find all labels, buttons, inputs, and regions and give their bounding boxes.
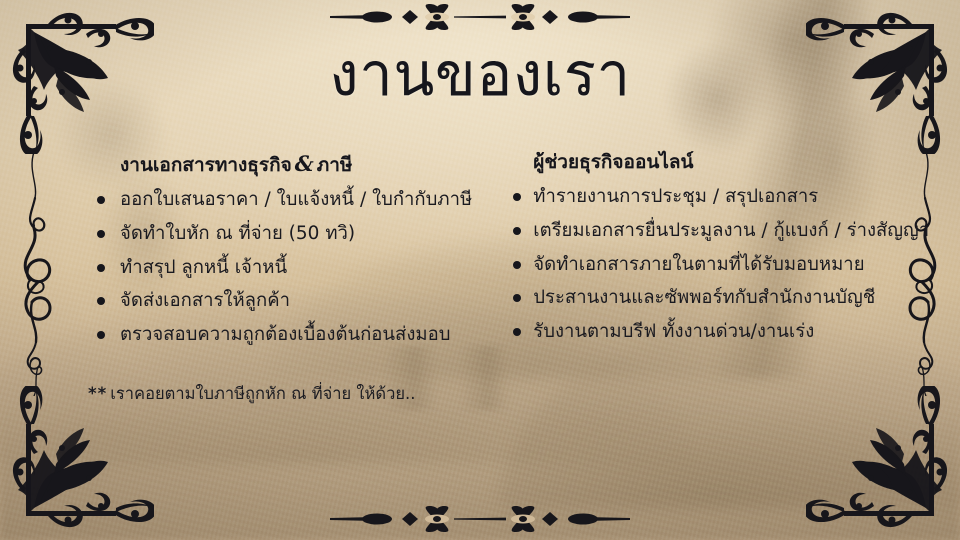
column-business-documents: งานเอกสารทางธุรกิจ&ภาษี ออกใบเสนอราคา / … bbox=[88, 150, 485, 353]
column-heading-left: งานเอกสารทางธุรกิจ&ภาษี bbox=[120, 150, 485, 178]
column-online-assistant: ผู้ช่วยธุรกิจออนไลน์ ทำรายงานการประชุม /… bbox=[513, 150, 932, 353]
column-heading-right: ผู้ช่วยธุรกิจออนไลน์ bbox=[533, 150, 932, 175]
bullet-list-left: ออกใบเสนอราคา / ใบแจ้งหนี้ / ใบกำกับภาษี… bbox=[88, 184, 485, 353]
list-item: ประสานงานและซัพพอร์ทกับสำนักงานบัญชี bbox=[513, 282, 932, 315]
column-heading-left-suffix: ภาษี bbox=[317, 154, 353, 176]
column-heading-left-text: งานเอกสารทางธุรกิจ bbox=[120, 154, 292, 176]
ampersand-glyph: & bbox=[292, 151, 317, 176]
list-item: จัดส่งเอกสารให้ลูกค้า bbox=[88, 285, 485, 318]
list-item: รับงานตามบรีฟ ทั้งงานด่วน/งานเร่ง bbox=[513, 316, 932, 349]
list-item: จัดทำใบหัก ณ ที่จ่าย (50 ทวิ) bbox=[88, 218, 485, 251]
content-columns: งานเอกสารทางธุรกิจ&ภาษี ออกใบเสนอราคา / … bbox=[88, 150, 932, 353]
footnote: **เราคอยตามใบภาษีถูกหัก ณ ที่จ่าย ให้ด้ว… bbox=[88, 382, 416, 407]
list-item: เตรียมเอกสารยื่นประมูลงาน / กู้แบงก์ / ร… bbox=[513, 215, 932, 248]
footnote-marker: ** bbox=[88, 384, 107, 403]
bullet-list-right: ทำรายงานการประชุม / สรุปเอกสาร เตรียมเอก… bbox=[513, 181, 932, 350]
list-item: ทำรายงานการประชุม / สรุปเอกสาร bbox=[513, 181, 932, 214]
slide-canvas: งานของเรา งานเอกสารทางธุรกิจ&ภาษี ออกใบเ… bbox=[0, 0, 960, 540]
page-title: งานของเรา bbox=[0, 44, 960, 107]
list-item: ออกใบเสนอราคา / ใบแจ้งหนี้ / ใบกำกับภาษี bbox=[88, 184, 485, 217]
list-item: ทำสรุป ลูกหนี้ เจ้าหนี้ bbox=[88, 252, 485, 285]
list-item: ตรวจสอบความถูกต้องเบื้องต้นก่อนส่งมอบ bbox=[88, 319, 485, 352]
footnote-text: เราคอยตามใบภาษีถูกหัก ณ ที่จ่าย ให้ด้วย.… bbox=[110, 384, 415, 403]
list-item: จัดทำเอกสารภายในตามที่ได้รับมอบหมาย bbox=[513, 249, 932, 282]
